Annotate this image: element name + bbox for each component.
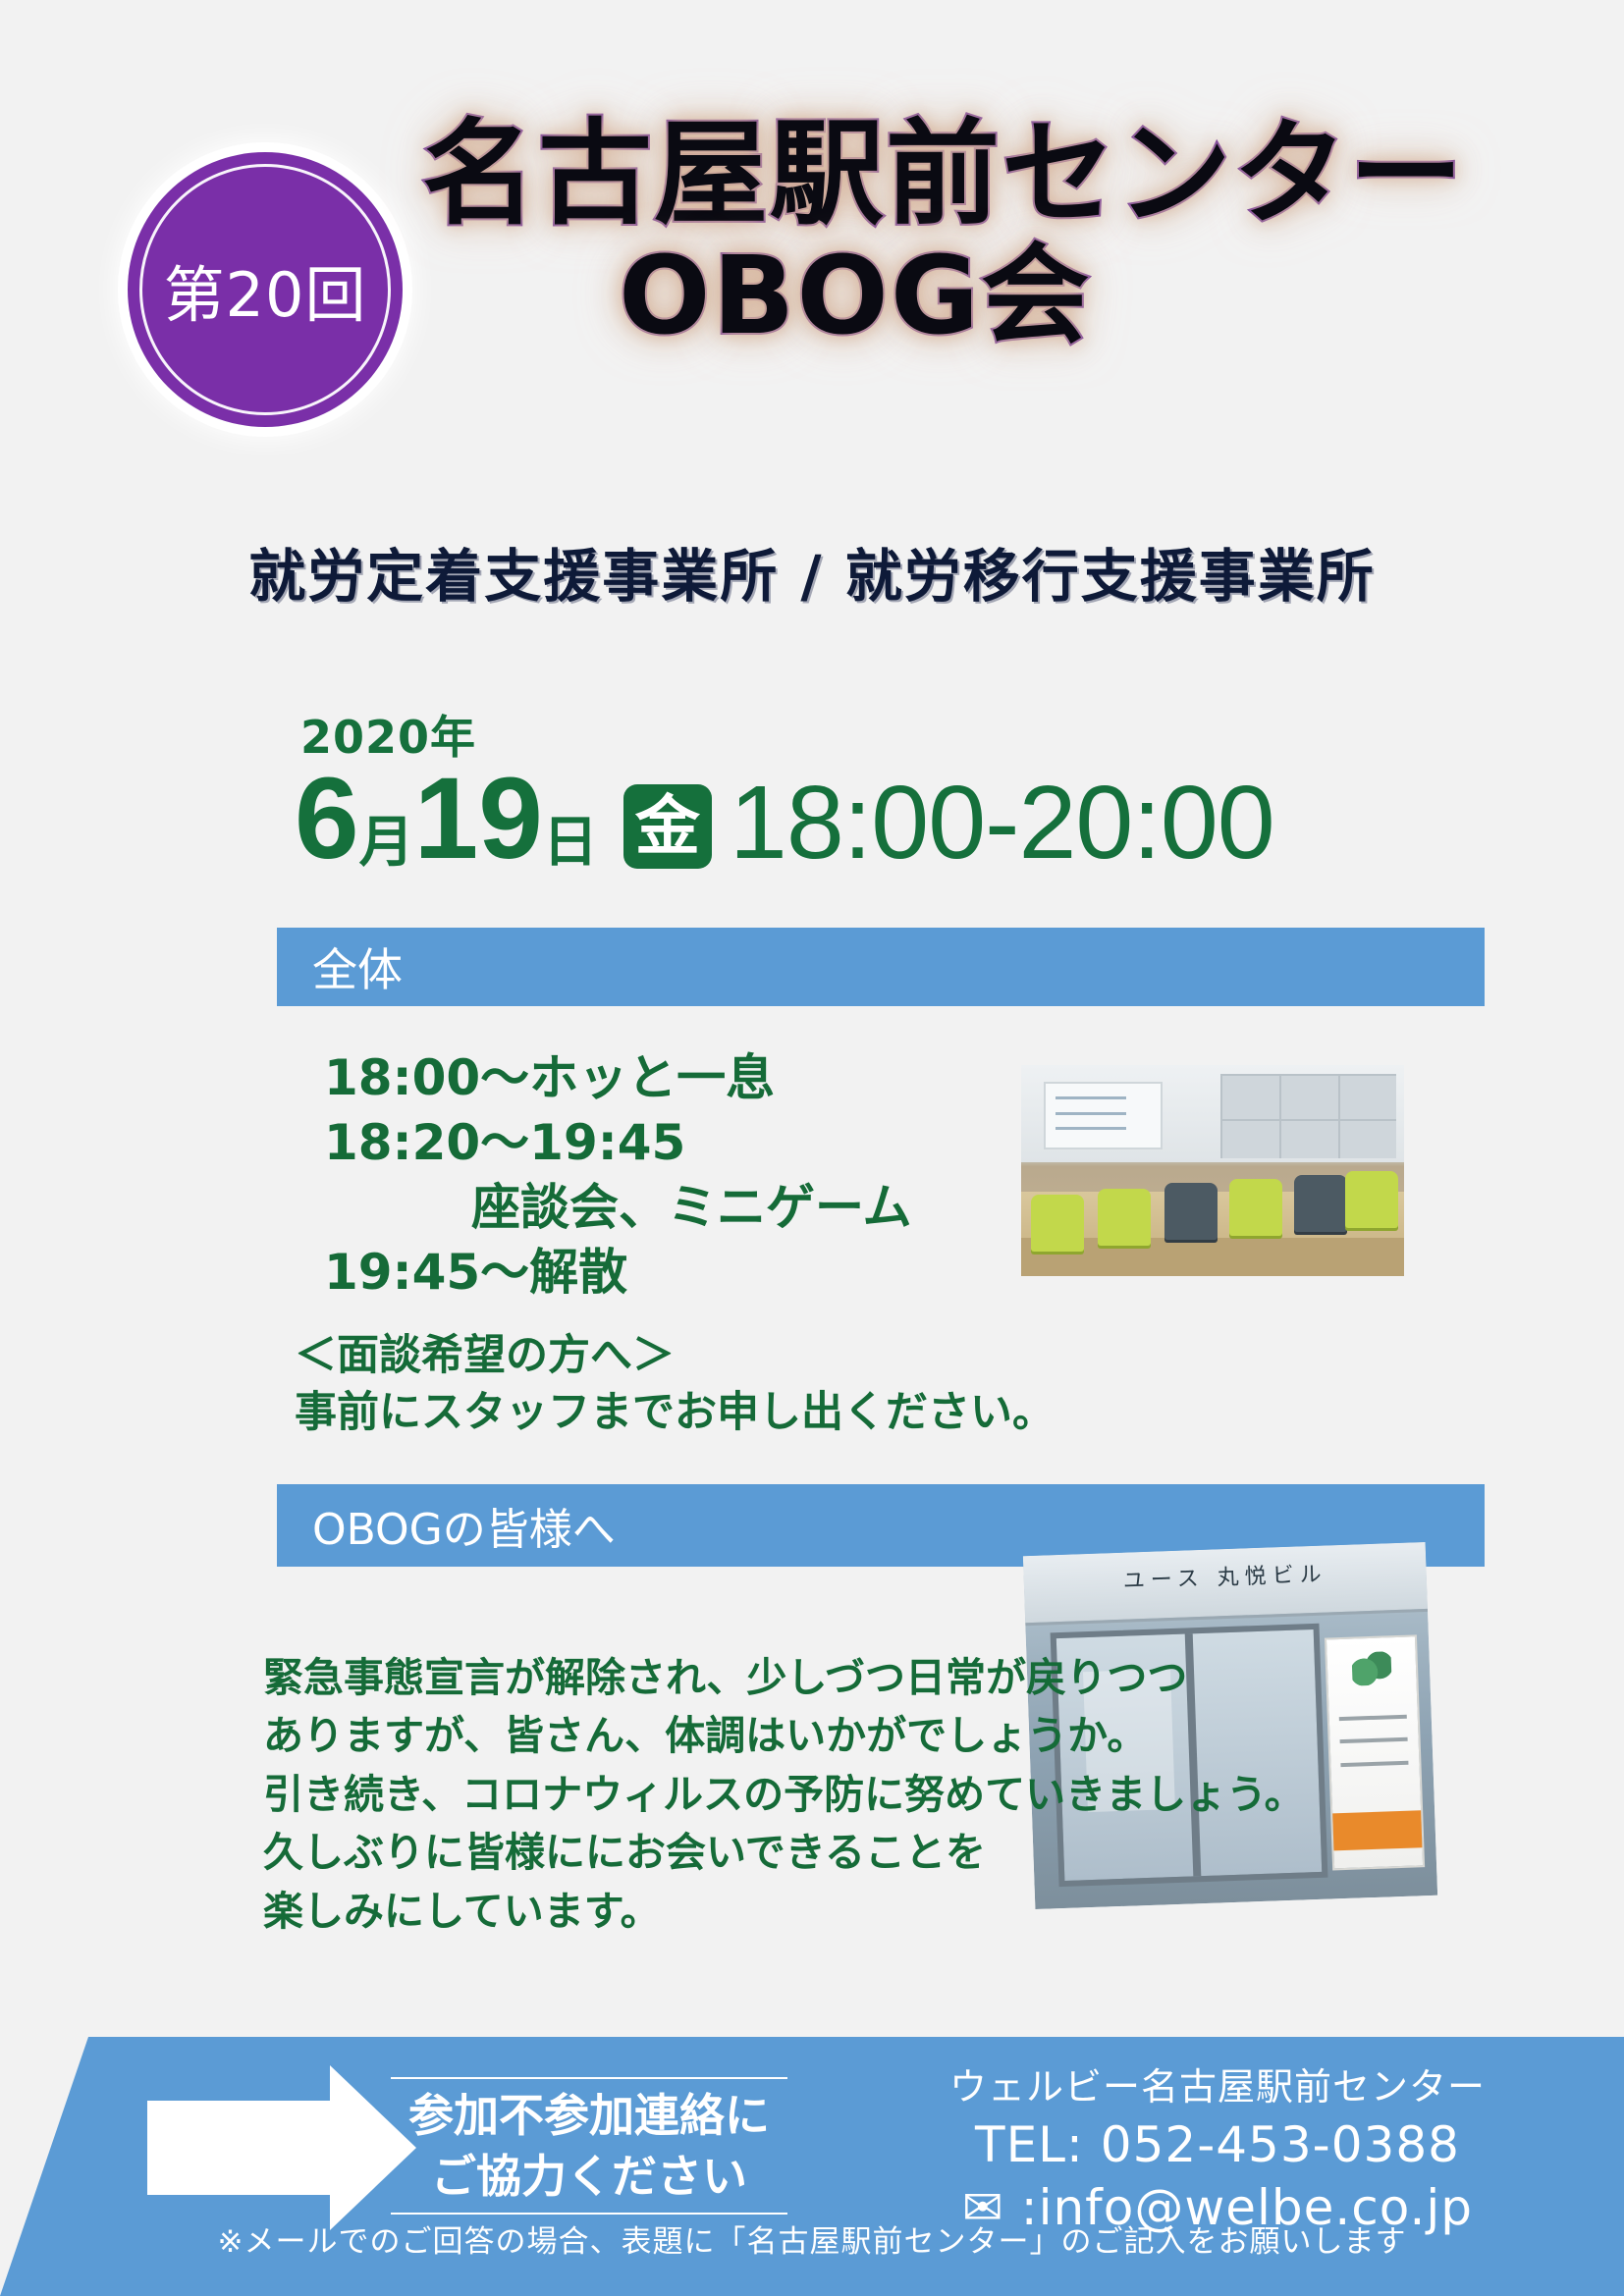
edition-badge: 第20回	[128, 152, 403, 427]
footer-cta-rule-top	[391, 2077, 787, 2079]
footer-cta: 参加不参加連絡に ご協力ください	[373, 2071, 805, 2220]
message-line-2: ありますが、皆さん、体調はいかがでしょうか。	[263, 1707, 1305, 1765]
message-line-4: 久しぶりに皆様ににお会いできることを	[263, 1824, 1305, 1882]
lockers-icon	[1220, 1074, 1396, 1158]
title-line-2: OBOG会	[422, 241, 1561, 349]
chair-icon	[1294, 1175, 1347, 1232]
chair-icon	[1229, 1179, 1282, 1236]
subtitle: 就労定着支援事業所 / 就労移行支援事業所	[0, 530, 1624, 613]
chair-icon	[1098, 1189, 1151, 1246]
title-line-1: 名古屋駅前センター	[422, 118, 1561, 232]
interview-note-line-2: 事前にスタッフまでお申し出ください。	[295, 1384, 1055, 1441]
photo-meeting-room	[1021, 1065, 1404, 1276]
flyer-page: 第20回 名古屋駅前センター OBOG会 就労定着支援事業所 / 就労移行支援事…	[0, 0, 1624, 2296]
chair-icon	[1345, 1171, 1398, 1228]
chair-icon	[1164, 1183, 1218, 1240]
date-month-number: 6	[295, 761, 359, 877]
whiteboard-icon	[1044, 1082, 1163, 1149]
arrow-right-icon	[147, 2101, 330, 2195]
footer-tel[interactable]: TEL: 052-453-0388	[844, 2116, 1591, 2173]
footer-cta-line-2: ご協力ください	[373, 2146, 805, 2207]
interview-note: ＜面談希望の方へ＞ 事前にスタッフまでお申し出ください。	[295, 1327, 1055, 1441]
schedule-item-4: 19:45～解散	[324, 1240, 912, 1305]
footer-cta-line-1: 参加不参加連絡に	[373, 2085, 805, 2146]
interview-note-line-1: ＜面談希望の方へ＞	[295, 1327, 1055, 1384]
chair-icon	[1031, 1195, 1084, 1252]
message-line-3: 引き続き、コロナウィルスの予防に努めていきましょう。	[263, 1766, 1305, 1824]
schedule-list: 18:00～ホッと一息 18:20～19:45 座談会、ミニゲーム 19:45～…	[324, 1045, 912, 1305]
section-header-obog-label: OBOGの皆様へ	[312, 1494, 616, 1557]
date-row: 6 月 19 日 金 18:00-20:00	[295, 761, 1274, 877]
footer-contact: ウェルビー名古屋駅前センター TEL: 052-453-0388 ✉ :info…	[844, 2056, 1591, 2236]
schedule-item-1: 18:00～ホッと一息	[324, 1045, 912, 1110]
date-month-unit: 月	[359, 816, 414, 877]
message-line-5: 楽しみにしています。	[263, 1883, 1305, 1941]
footer-org-name: ウェルビー名古屋駅前センター	[844, 2056, 1591, 2110]
section-header-zentai-label: 全体	[312, 934, 403, 999]
title-block: 名古屋駅前センター OBOG会	[422, 118, 1561, 349]
weekday-chip: 金	[623, 784, 712, 869]
footer-note: ※メールでのご回答の場合、表題に「名古屋駅前センター」のご記入をお願いします	[0, 2216, 1624, 2261]
schedule-item-3: 座談会、ミニゲーム	[324, 1175, 912, 1240]
edition-badge-label: 第20回	[164, 245, 367, 334]
date-day-unit: 日	[543, 816, 598, 877]
section-header-zentai: 全体	[277, 928, 1485, 1006]
schedule-item-2: 18:20～19:45	[324, 1110, 912, 1175]
message-line-1: 緊急事態宣言が解除され、少しづつ日常が戻りつつ	[263, 1649, 1305, 1707]
welbe-leaf-logo-icon	[1351, 1651, 1391, 1685]
footer-cta-rule-bottom	[391, 2213, 787, 2215]
banner-orange-stripe	[1332, 1810, 1422, 1849]
date-block: 2020年 6 月 19 日 金 18:00-20:00	[295, 702, 1274, 877]
standing-banner	[1324, 1634, 1424, 1871]
time-range: 18:00-20:00	[730, 771, 1274, 877]
date-day-number: 19	[414, 761, 543, 877]
message-body: 緊急事態宣言が解除され、少しづつ日常が戻りつつ ありますが、皆さん、体調はいかが…	[263, 1649, 1305, 1941]
